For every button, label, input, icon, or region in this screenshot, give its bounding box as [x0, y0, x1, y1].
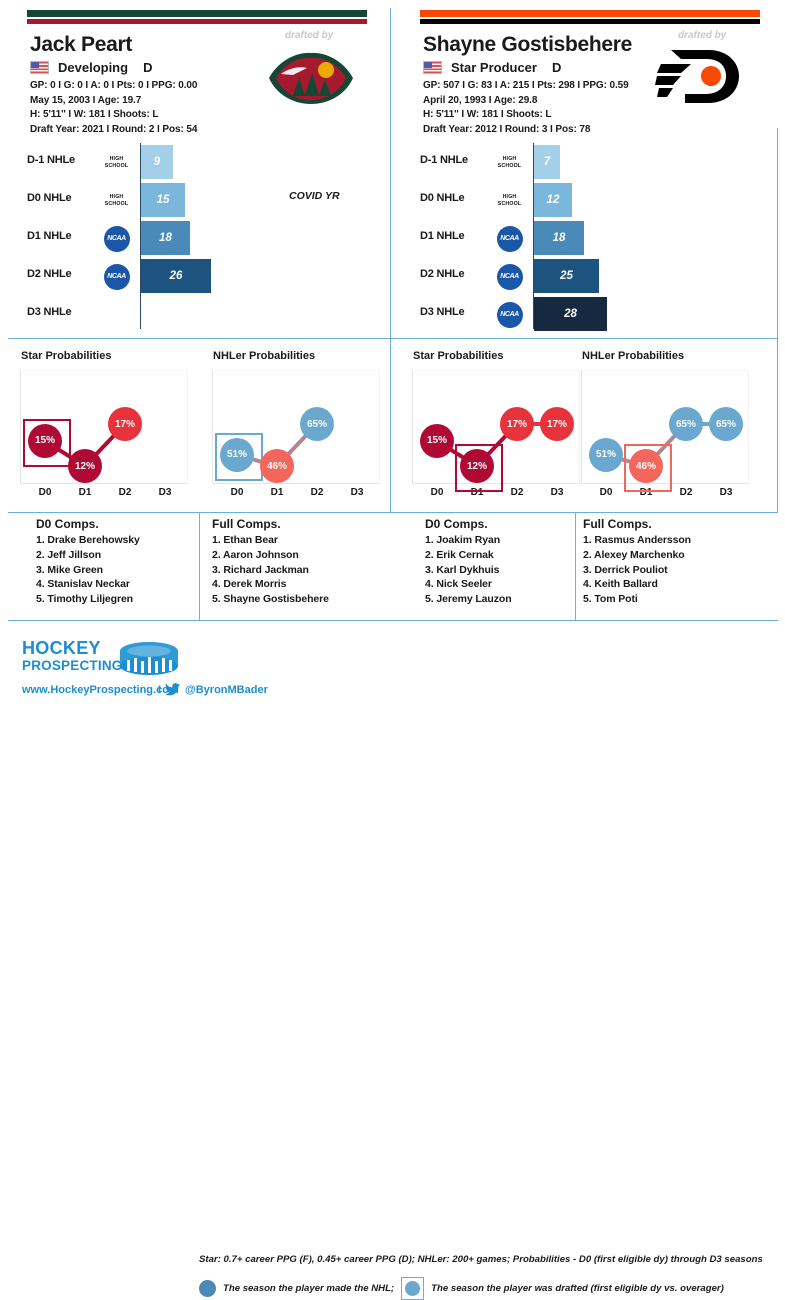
comps-title: Full Comps. — [212, 517, 398, 531]
comps-title: Full Comps. — [583, 517, 769, 531]
ncaa-logo: NCAA — [494, 299, 525, 330]
x-axis-tick: D3 — [145, 487, 185, 498]
comps-item: 1. Ethan Bear — [212, 533, 398, 548]
legend-drafted-text: The season the player was drafted (first… — [431, 1283, 724, 1294]
comps-item: 1. Rasmus Andersson — [583, 533, 769, 548]
full-comps-left: Full Comps. 1. Ethan Bear2. Aaron Johnso… — [212, 517, 398, 607]
player-stat-line-4: Draft Year: 2012 I Round: 3 I Pos: 78 — [423, 123, 753, 138]
x-axis-tick: D3 — [337, 487, 377, 498]
plot-area: 51%46%65%65%D0D1D2D3 — [581, 370, 749, 484]
high-school-logo: HIGHSCHOOL — [101, 185, 132, 216]
x-axis-tick: D2 — [105, 487, 145, 498]
high-school-logo: HIGHSCHOOL — [494, 147, 525, 178]
nhle-bar-value: 25 — [534, 270, 599, 282]
nhle-row-label: D-1 NHLe — [420, 154, 468, 166]
player-stat-line-3: H: 5'11'' I W: 181 I Shoots: L — [30, 108, 360, 123]
comps-item: 5. Timothy Liljegren — [36, 592, 222, 607]
footer: HOCKEY PROSPECTING www.HockeyProspecting… — [0, 622, 785, 710]
x-axis-tick: D2 — [297, 487, 337, 498]
legend-nhl-text: The season the player made the NHL; — [223, 1283, 394, 1294]
nhle-row-label: D3 NHLe — [420, 306, 464, 318]
probability-node[interactable]: 15% — [420, 424, 454, 458]
player-stat-line-3: H: 5'11'' I W: 181 I Shoots: L — [423, 108, 753, 123]
x-axis-tick: D3 — [706, 487, 746, 498]
brand-line-2: PROSPECTING — [22, 658, 122, 673]
nhle-bar-value: 18 — [534, 232, 584, 244]
comps-item: 3. Derrick Pouliot — [583, 563, 769, 578]
nhle-bar-value: 15 — [141, 194, 185, 206]
team-color-bar-secondary — [420, 19, 760, 24]
comps-item: 2. Jeff Jillson — [36, 548, 222, 563]
nhle-row-label: D1 NHLe — [27, 230, 71, 242]
nhle-row-label: D1 NHLe — [420, 230, 464, 242]
plot-area: 15%12%17%D0D1D2D3 — [20, 370, 188, 484]
x-axis-tick: D2 — [666, 487, 706, 498]
high-school-logo: HIGHSCHOOL — [494, 185, 525, 216]
d0-comps-left: D0 Comps. 1. Drake Berehowsky2. Jeff Jil… — [36, 517, 222, 607]
nhle-row: D2 NHLeNCAA25 — [393, 257, 785, 295]
nhle-bar-value: 7 — [534, 156, 560, 168]
divider-comps-right — [575, 513, 576, 620]
ncaa-logo: NCAA — [101, 223, 132, 254]
player-status: Developing — [58, 60, 128, 75]
plot-area: 51%46%65%D0D1D2D3 — [212, 370, 380, 484]
nhle-bar-value: 9 — [141, 156, 173, 168]
x-axis-tick: D1 — [65, 487, 105, 498]
nhle-bar: 18 — [141, 221, 190, 255]
nhle-chart-left: D-1 NHLeHIGHSCHOOL9D0 NHLeHIGHSCHOOL15D1… — [0, 143, 392, 335]
ncaa-logo: NCAA — [494, 223, 525, 254]
chart-title: Star Probabilities — [413, 350, 503, 362]
probability-node[interactable]: 17% — [500, 407, 534, 441]
nhle-bar: 12 — [534, 183, 572, 217]
comps-item: 5. Tom Poti — [583, 592, 769, 607]
probability-node[interactable]: 17% — [540, 407, 574, 441]
team-color-bar-secondary — [27, 19, 367, 24]
nhler-probabilities-chart-left: NHLer Probabilities 51%46%65%D0D1D2D3 — [199, 344, 385, 512]
legend-nhl-dot-icon — [199, 1280, 216, 1297]
definition-note: Star: 0.7+ career PPG (F), 0.45+ career … — [199, 1254, 763, 1265]
nhler-probabilities-chart-right: NHLer Probabilities 51%46%65%65%D0D1D2D3 — [568, 344, 754, 512]
chart-title: Star Probabilities — [21, 350, 111, 362]
probability-node[interactable]: 46% — [629, 449, 663, 483]
nhle-bar: 18 — [534, 221, 584, 255]
divider-comps-left — [199, 513, 200, 620]
full-comps-right: Full Comps. 1. Rasmus Andersson2. Alexey… — [583, 517, 769, 607]
divider-top-charts — [8, 338, 778, 339]
nhle-row: D-1 NHLeHIGHSCHOOL7 — [393, 143, 785, 181]
drafted-by-label: drafted by — [678, 30, 726, 41]
plot-area: 15%12%17%17%D0D1D2D3 — [412, 370, 580, 484]
ncaa-logo: NCAA — [101, 261, 132, 292]
divider-charts-comps — [8, 512, 778, 513]
star-probabilities-chart-right: Star Probabilities 15%12%17%17%D0D1D2D3 — [399, 344, 585, 512]
comps-item: 2. Alexey Marchenko — [583, 548, 769, 563]
star-probabilities-chart-left: Star Probabilities 15%12%17%D0D1D2D3 — [7, 344, 193, 512]
nhle-row: D3 NHLe — [0, 295, 392, 333]
player-panel-right: Shayne Gostisbehere Star Producer D GP: … — [393, 0, 785, 710]
nhle-row-label: D2 NHLe — [420, 268, 464, 280]
player-position: D — [143, 60, 152, 75]
team-color-bars-right — [420, 10, 760, 24]
x-axis-tick: D0 — [217, 487, 257, 498]
x-axis-tick: D0 — [417, 487, 457, 498]
x-axis-tick: D0 — [586, 487, 626, 498]
chart-title: NHLer Probabilities — [213, 350, 315, 362]
nhle-bar-value: 28 — [534, 308, 607, 320]
nhle-bar: 7 — [534, 145, 560, 179]
nhle-row: D2 NHLeNCAA26 — [0, 257, 392, 295]
philadelphia-flyers-logo — [651, 42, 747, 108]
nhle-bar: 9 — [141, 145, 173, 179]
us-flag-icon — [423, 61, 442, 74]
nhle-row-label: D2 NHLe — [27, 268, 71, 280]
comps-item: 3. Mike Green — [36, 563, 222, 578]
chart-title: NHLer Probabilities — [582, 350, 684, 362]
twitter-bird-icon[interactable] — [165, 683, 180, 696]
probability-node[interactable]: 65% — [669, 407, 703, 441]
nhle-bar-value: 18 — [141, 232, 190, 244]
twitter-handle[interactable]: @ByronMBader — [185, 684, 268, 696]
comps-item: 3. Richard Jackman — [212, 563, 398, 578]
brand-line-1: HOCKEY — [22, 639, 122, 658]
nhle-row: D1 NHLeNCAA18 — [0, 219, 392, 257]
divider-comps-footer — [8, 620, 778, 621]
brand-wordmark: HOCKEY PROSPECTING — [22, 639, 122, 673]
probability-node[interactable]: 12% — [460, 449, 494, 483]
comps-item: 2. Aaron Johnson — [212, 548, 398, 563]
ncaa-logo: NCAA — [494, 261, 525, 292]
nhle-chart-right: D-1 NHLeHIGHSCHOOL7D0 NHLeHIGHSCHOOL12D1… — [393, 143, 785, 335]
probability-node[interactable]: 65% — [709, 407, 743, 441]
nhle-bar: 28 — [534, 297, 607, 331]
team-color-bars-left — [27, 10, 367, 24]
nhle-row-label: D-1 NHLe — [27, 154, 75, 166]
high-school-logo: HIGHSCHOOL — [101, 147, 132, 178]
probability-node[interactable]: 51% — [220, 438, 254, 472]
nhle-bar: 25 — [534, 259, 599, 293]
probability-node[interactable]: 12% — [68, 449, 102, 483]
nhle-row: D0 NHLeHIGHSCHOOL12 — [393, 181, 785, 219]
us-flag-icon — [30, 61, 49, 74]
probability-node[interactable]: 65% — [300, 407, 334, 441]
nhle-bar-value: 12 — [534, 194, 572, 206]
x-axis-tick: D2 — [497, 487, 537, 498]
divider-panels — [390, 8, 391, 512]
comps-item: 1. Drake Berehowsky — [36, 533, 222, 548]
nhle-row: D-1 NHLeHIGHSCHOOL9 — [0, 143, 392, 181]
legend-row: The season the player made the NHL; The … — [199, 1277, 731, 1300]
probability-node[interactable]: 46% — [260, 449, 294, 483]
legend-drafted-square-icon — [401, 1277, 424, 1300]
probability-node[interactable]: 17% — [108, 407, 142, 441]
nhle-row-label: D0 NHLe — [420, 192, 464, 204]
comps-item: 5. Shayne Gostisbehere — [212, 592, 398, 607]
hockey-puck-icon — [118, 640, 180, 676]
comps-item: 4. Keith Ballard — [583, 577, 769, 592]
drafted-by-label: drafted by — [285, 30, 333, 41]
comps-item: 4. Derek Morris — [212, 577, 398, 592]
nhle-bar: 15 — [141, 183, 185, 217]
nhle-row: D3 NHLeNCAA28 — [393, 295, 785, 333]
nhle-row-label: D3 NHLe — [27, 306, 71, 318]
nhle-row: D1 NHLeNCAA18 — [393, 219, 785, 257]
website-link[interactable]: www.HockeyProspecting.com — [22, 684, 179, 696]
probability-node[interactable]: 51% — [589, 438, 623, 472]
probability-node[interactable]: 15% — [28, 424, 62, 458]
player-stat-line-4: Draft Year: 2021 I Round: 2 I Pos: 54 — [30, 123, 360, 138]
x-axis-tick: D0 — [25, 487, 65, 498]
player-status: Star Producer — [451, 60, 537, 75]
x-axis-tick: D1 — [257, 487, 297, 498]
comps-title: D0 Comps. — [36, 517, 222, 531]
covid-year-note: COVID YR — [289, 190, 340, 202]
nhle-row-label: D0 NHLe — [27, 192, 71, 204]
nhle-bar-value: 26 — [141, 270, 211, 282]
player-panel-left: Jack Peart Developing D GP: 0 I G: 0 I A… — [0, 0, 392, 710]
minnesota-wild-logo — [263, 44, 359, 110]
nhle-bar: 26 — [141, 259, 211, 293]
player-position: D — [552, 60, 561, 75]
divider-right-edge — [777, 128, 778, 512]
footer-separator: I — [158, 684, 161, 696]
team-color-bar-primary — [27, 10, 367, 17]
comps-item: 4. Stanislav Neckar — [36, 577, 222, 592]
team-color-bar-primary — [420, 10, 760, 17]
